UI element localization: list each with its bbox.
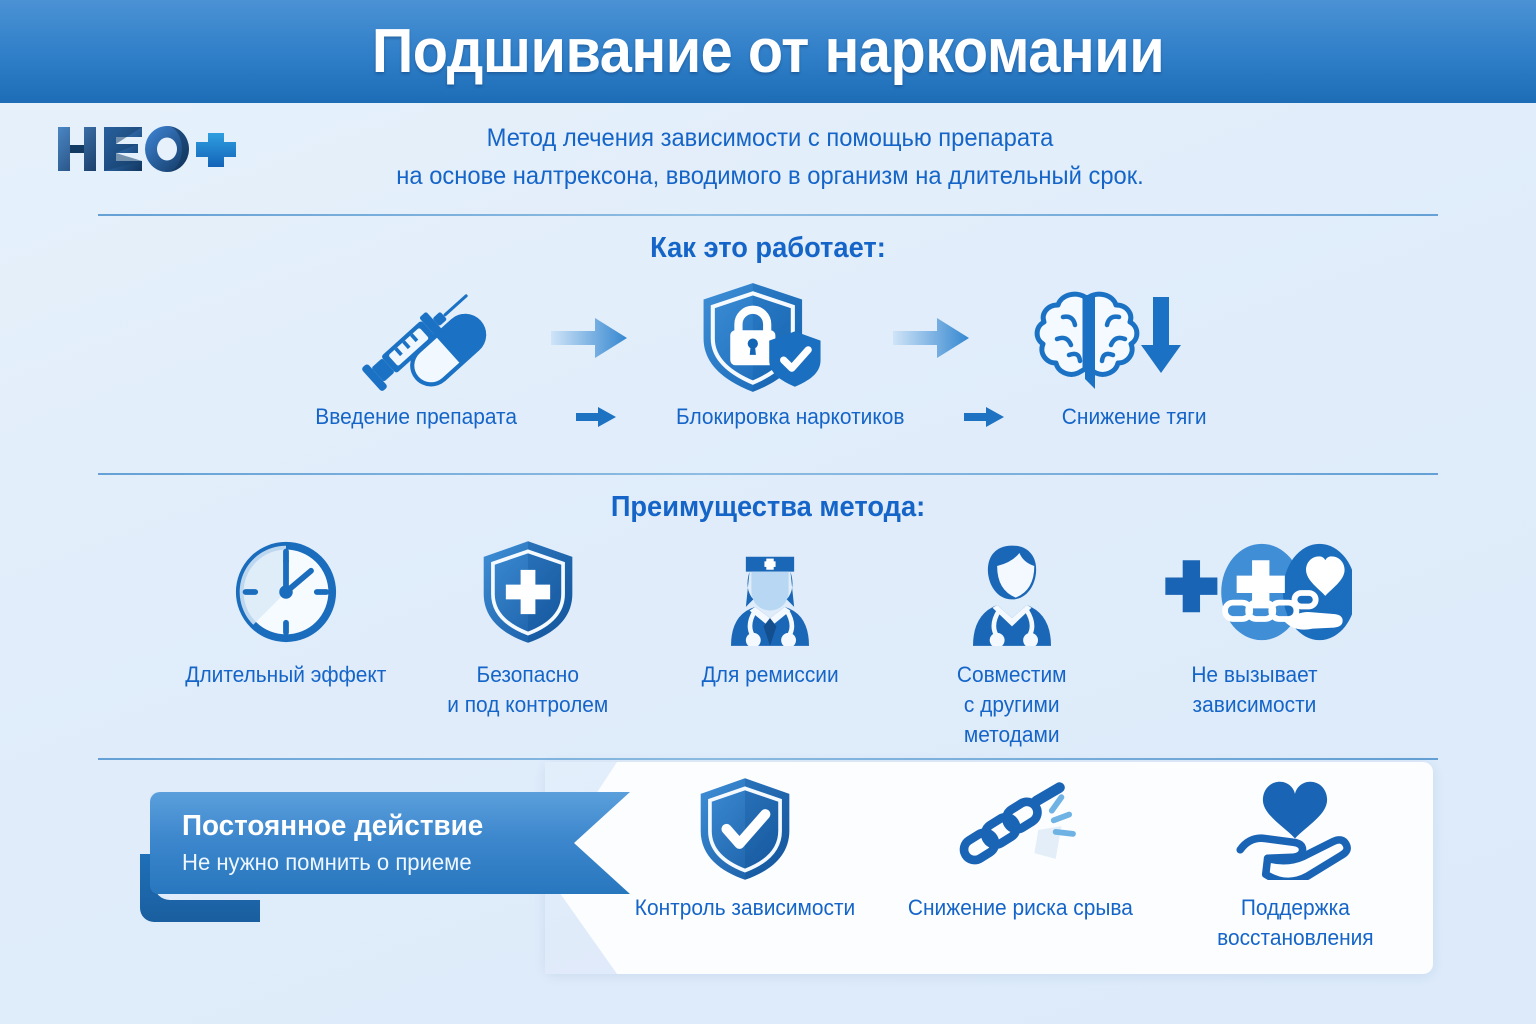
outcome-item: Контроль зависимости bbox=[620, 775, 870, 923]
intro-line-2: на основе налтрексона, вводимого в орган… bbox=[324, 157, 1217, 195]
shield-cross-icon bbox=[480, 538, 576, 646]
arrow-right-icon bbox=[549, 313, 629, 363]
doctor-icon bbox=[718, 538, 822, 646]
how-it-works-section: Введение препарата Блокировка наркотиков… bbox=[330, 282, 1190, 452]
syringe-pill-icon bbox=[330, 282, 505, 394]
outcome-item: Снижение риска срыва bbox=[895, 775, 1145, 923]
how-it-works-label-row: Введение препарата Блокировка наркотиков… bbox=[310, 404, 1210, 430]
step-label-1: Введение препарата bbox=[315, 404, 517, 430]
ribbon-title: Постоянное действие bbox=[182, 810, 566, 843]
benefit-label: Не вызывает зависимости bbox=[1191, 660, 1317, 720]
arrow-right-icon bbox=[961, 405, 1007, 429]
outcome-label: Контроль зависимости bbox=[635, 893, 855, 923]
clock-icon bbox=[234, 538, 338, 646]
how-it-works-icon-row bbox=[330, 282, 1190, 394]
shield-check-icon bbox=[697, 775, 793, 883]
hand-heart-icon bbox=[1236, 775, 1354, 883]
brain-down-arrow-icon bbox=[1015, 282, 1190, 394]
permanent-action-ribbon: Постоянное действие Не нужно помнить о п… bbox=[140, 792, 640, 924]
benefit-item: Длительный эффект bbox=[180, 538, 392, 690]
benefit-item: Не вызывает зависимости bbox=[1148, 538, 1360, 720]
shield-lock-icon bbox=[673, 282, 848, 394]
ribbon-subtitle: Не нужно помнить о приеме bbox=[182, 849, 566, 876]
arrow-right-icon bbox=[891, 313, 971, 363]
outcome-label: Поддержка восстановления bbox=[1217, 893, 1373, 953]
how-it-works-heading: Как это работает: bbox=[46, 232, 1490, 265]
page-header: Подшивание от наркомании bbox=[0, 0, 1536, 103]
benefit-label: Безопасно и под контролем bbox=[447, 660, 608, 720]
intro-line-1: Метод лечения зависимости с помощью преп… bbox=[487, 124, 1054, 152]
intro-text: Метод лечения зависимости с помощью преп… bbox=[324, 119, 1217, 195]
outcome-label: Снижение риска срыва bbox=[908, 893, 1133, 923]
ribbon-text: Постоянное действие Не нужно помнить о п… bbox=[182, 810, 582, 876]
benefit-item: Для ремиссии bbox=[664, 538, 876, 690]
outcomes-list: Контроль зависимости Сн bbox=[620, 775, 1420, 970]
benefit-label: Длительный эффект bbox=[185, 660, 386, 690]
benefit-label: Совместим с другими методами bbox=[957, 660, 1067, 750]
step-label-3: Снижение тяги bbox=[1061, 404, 1206, 430]
broken-chain-icon bbox=[957, 775, 1083, 883]
medic-person-icon bbox=[960, 538, 1064, 646]
benefits-section: Длительный эффект Безопасно и под контро… bbox=[180, 538, 1360, 738]
divider-bottom bbox=[98, 758, 1438, 760]
step-label-2: Блокировка наркотиков bbox=[676, 404, 904, 430]
benefit-item: Безопасно и под контролем bbox=[422, 538, 634, 720]
benefit-label: Для ремиссии bbox=[701, 660, 838, 690]
divider-middle bbox=[98, 473, 1438, 475]
plus-chain-heart-hand-icon bbox=[1156, 538, 1352, 646]
divider-top bbox=[98, 214, 1438, 216]
benefits-heading: Преимущества метода: bbox=[46, 491, 1490, 524]
outcome-item: Поддержка восстановления bbox=[1170, 775, 1420, 953]
benefit-item: Совместим с другими методами bbox=[906, 538, 1118, 750]
arrow-right-icon bbox=[573, 405, 619, 429]
page-title: Подшивание от наркомании bbox=[372, 16, 1164, 87]
intro-section: Метод лечения зависимости с помощью преп… bbox=[0, 103, 1536, 215]
neo-plus-logo bbox=[48, 121, 238, 177]
